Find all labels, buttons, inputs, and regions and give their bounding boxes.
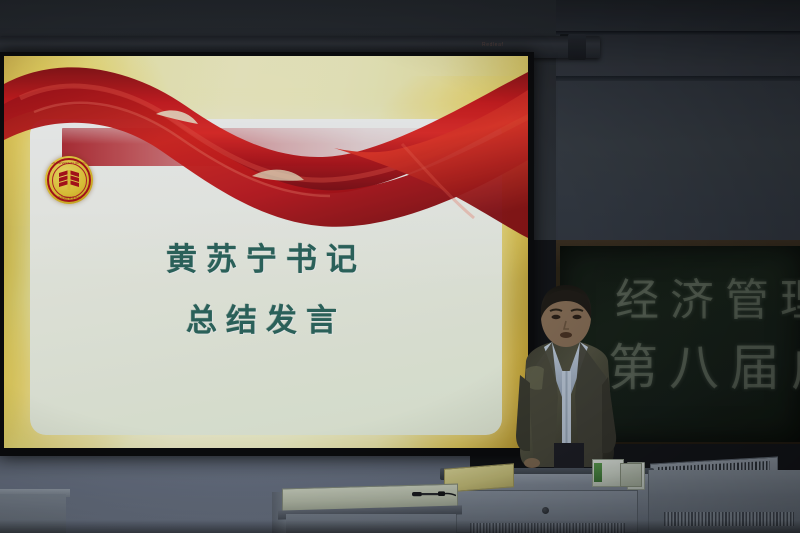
screen-brand-label: Redleaf	[482, 42, 503, 48]
chalkboard-line-1: 经济管理	[615, 264, 800, 328]
floor-shadow	[0, 520, 800, 533]
university-emblem: HENAN UNIVERSITY OF ECONOMICS AND LAW 河南…	[45, 156, 93, 204]
lectern-lock-knob[interactable]	[542, 507, 549, 514]
desk-microphone[interactable]	[412, 489, 456, 498]
chalkboard-line-2: 第八届成	[608, 328, 800, 400]
screen-housing-end-cap	[568, 34, 586, 60]
wall-trim-upper	[556, 31, 800, 35]
wall-trim-lower	[556, 76, 800, 81]
slide-title: 黄苏宁书记 总结发言	[30, 244, 502, 337]
projected-slide: HENAN UNIVERSITY OF ECONOMICS AND LAW 河南…	[4, 56, 528, 448]
emblem-ring-text-top: HENAN UNIVERSITY OF ECONOMICS AND LAW	[45, 162, 93, 165]
slide-title-line-1: 黄苏宁书记	[30, 244, 502, 277]
slide-title-line-2: 总结发言	[30, 305, 502, 338]
red-ribbon-graphic	[4, 56, 528, 256]
emblem-ring-text-bottom: 河南财经政法大学	[45, 196, 93, 200]
tissue-box-green-label	[594, 463, 602, 482]
paper-carton[interactable]	[620, 463, 642, 487]
lecture-hall-photo: Redleaf	[0, 0, 800, 533]
emblem-center-mark	[58, 170, 80, 190]
